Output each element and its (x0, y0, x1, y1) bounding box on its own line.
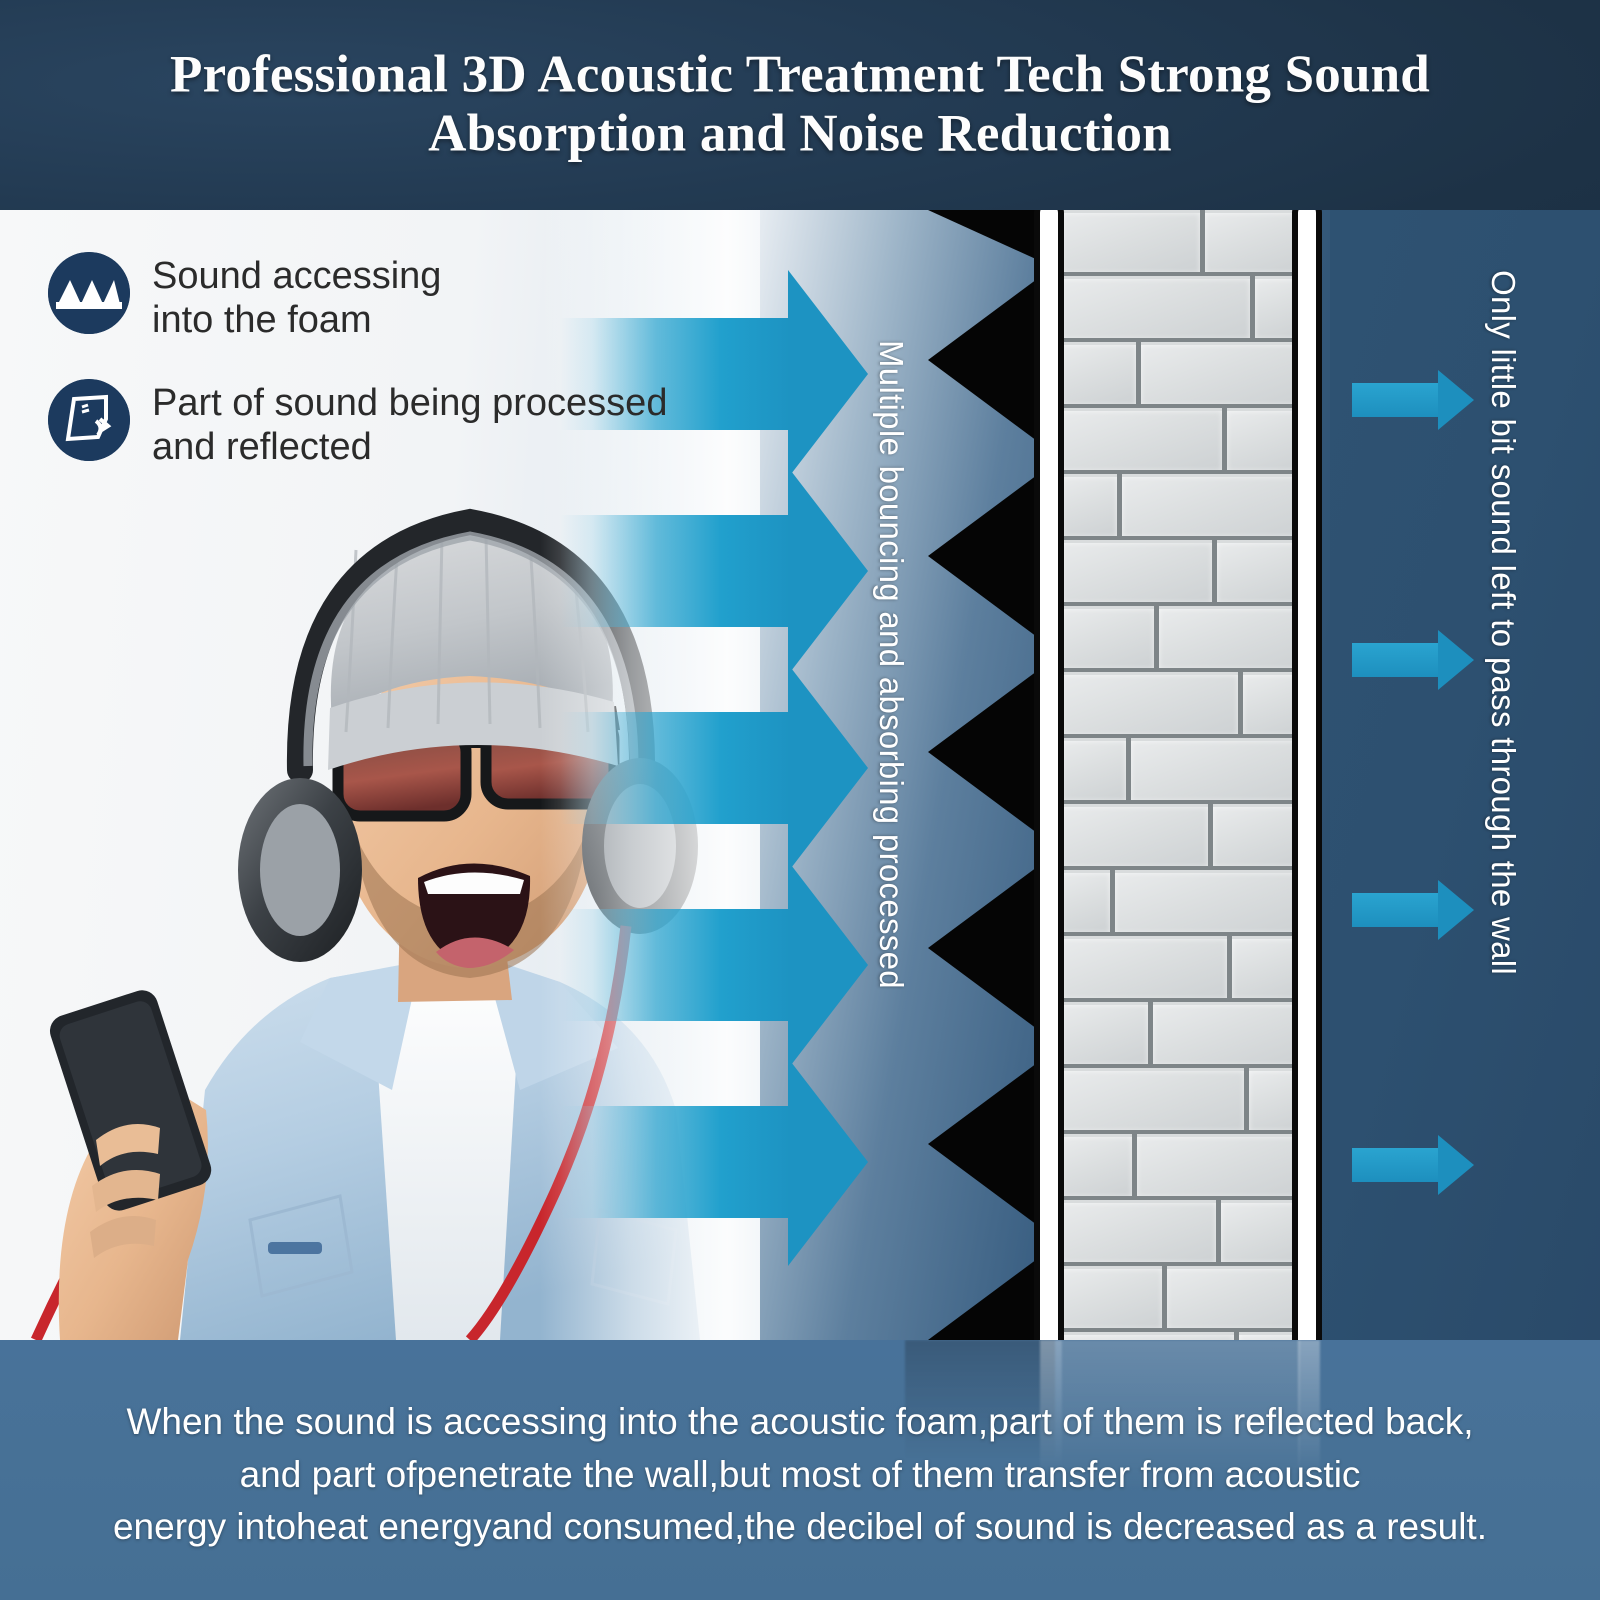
transmitted-sound-panel (1330, 210, 1600, 1340)
foam-process-label: Multiple bouncing and absorbing processe… (872, 340, 910, 989)
incoming-arrow-4 (560, 909, 790, 1021)
brick-wall (1062, 210, 1300, 1340)
diagram-stage: Multiple bouncing and absorbing processe… (0, 210, 1600, 1340)
legend-item-2[interactable]: Part of sound being processed and reflec… (48, 379, 708, 470)
outgoing-arrow-3 (1352, 893, 1440, 927)
outgoing-arrow-2 (1352, 643, 1440, 677)
incoming-arrow-2 (560, 515, 790, 627)
footer-caption-strip: When the sound is accessing into the aco… (0, 1340, 1600, 1600)
legend-item-2-label: Part of sound being processed and reflec… (152, 379, 667, 470)
wall-transmission-label: Only little bit sound left to pass throu… (1484, 270, 1522, 975)
page-title: Professional 3D Acoustic Treatment Tech … (80, 46, 1520, 165)
wall-post-left (1034, 210, 1064, 1340)
incoming-arrow-5 (560, 1106, 790, 1218)
legend-item-1-label: Sound accessing into the foam (152, 252, 441, 343)
incoming-arrow-3 (560, 712, 790, 824)
footer-caption: When the sound is accessing into the aco… (90, 1396, 1510, 1554)
legend-item-1[interactable]: Sound accessing into the foam (48, 252, 708, 343)
sound-reflection-icon (48, 379, 130, 461)
foam-sawtooth-icon (48, 252, 130, 334)
infographic-page: Professional 3D Acoustic Treatment Tech … (0, 0, 1600, 1600)
outgoing-arrow-1 (1352, 383, 1440, 417)
wall-post-right (1292, 210, 1322, 1340)
header-banner: Professional 3D Acoustic Treatment Tech … (0, 0, 1600, 210)
outgoing-arrow-4 (1352, 1148, 1440, 1182)
legend: Sound accessing into the foam Part of so… (48, 252, 708, 506)
